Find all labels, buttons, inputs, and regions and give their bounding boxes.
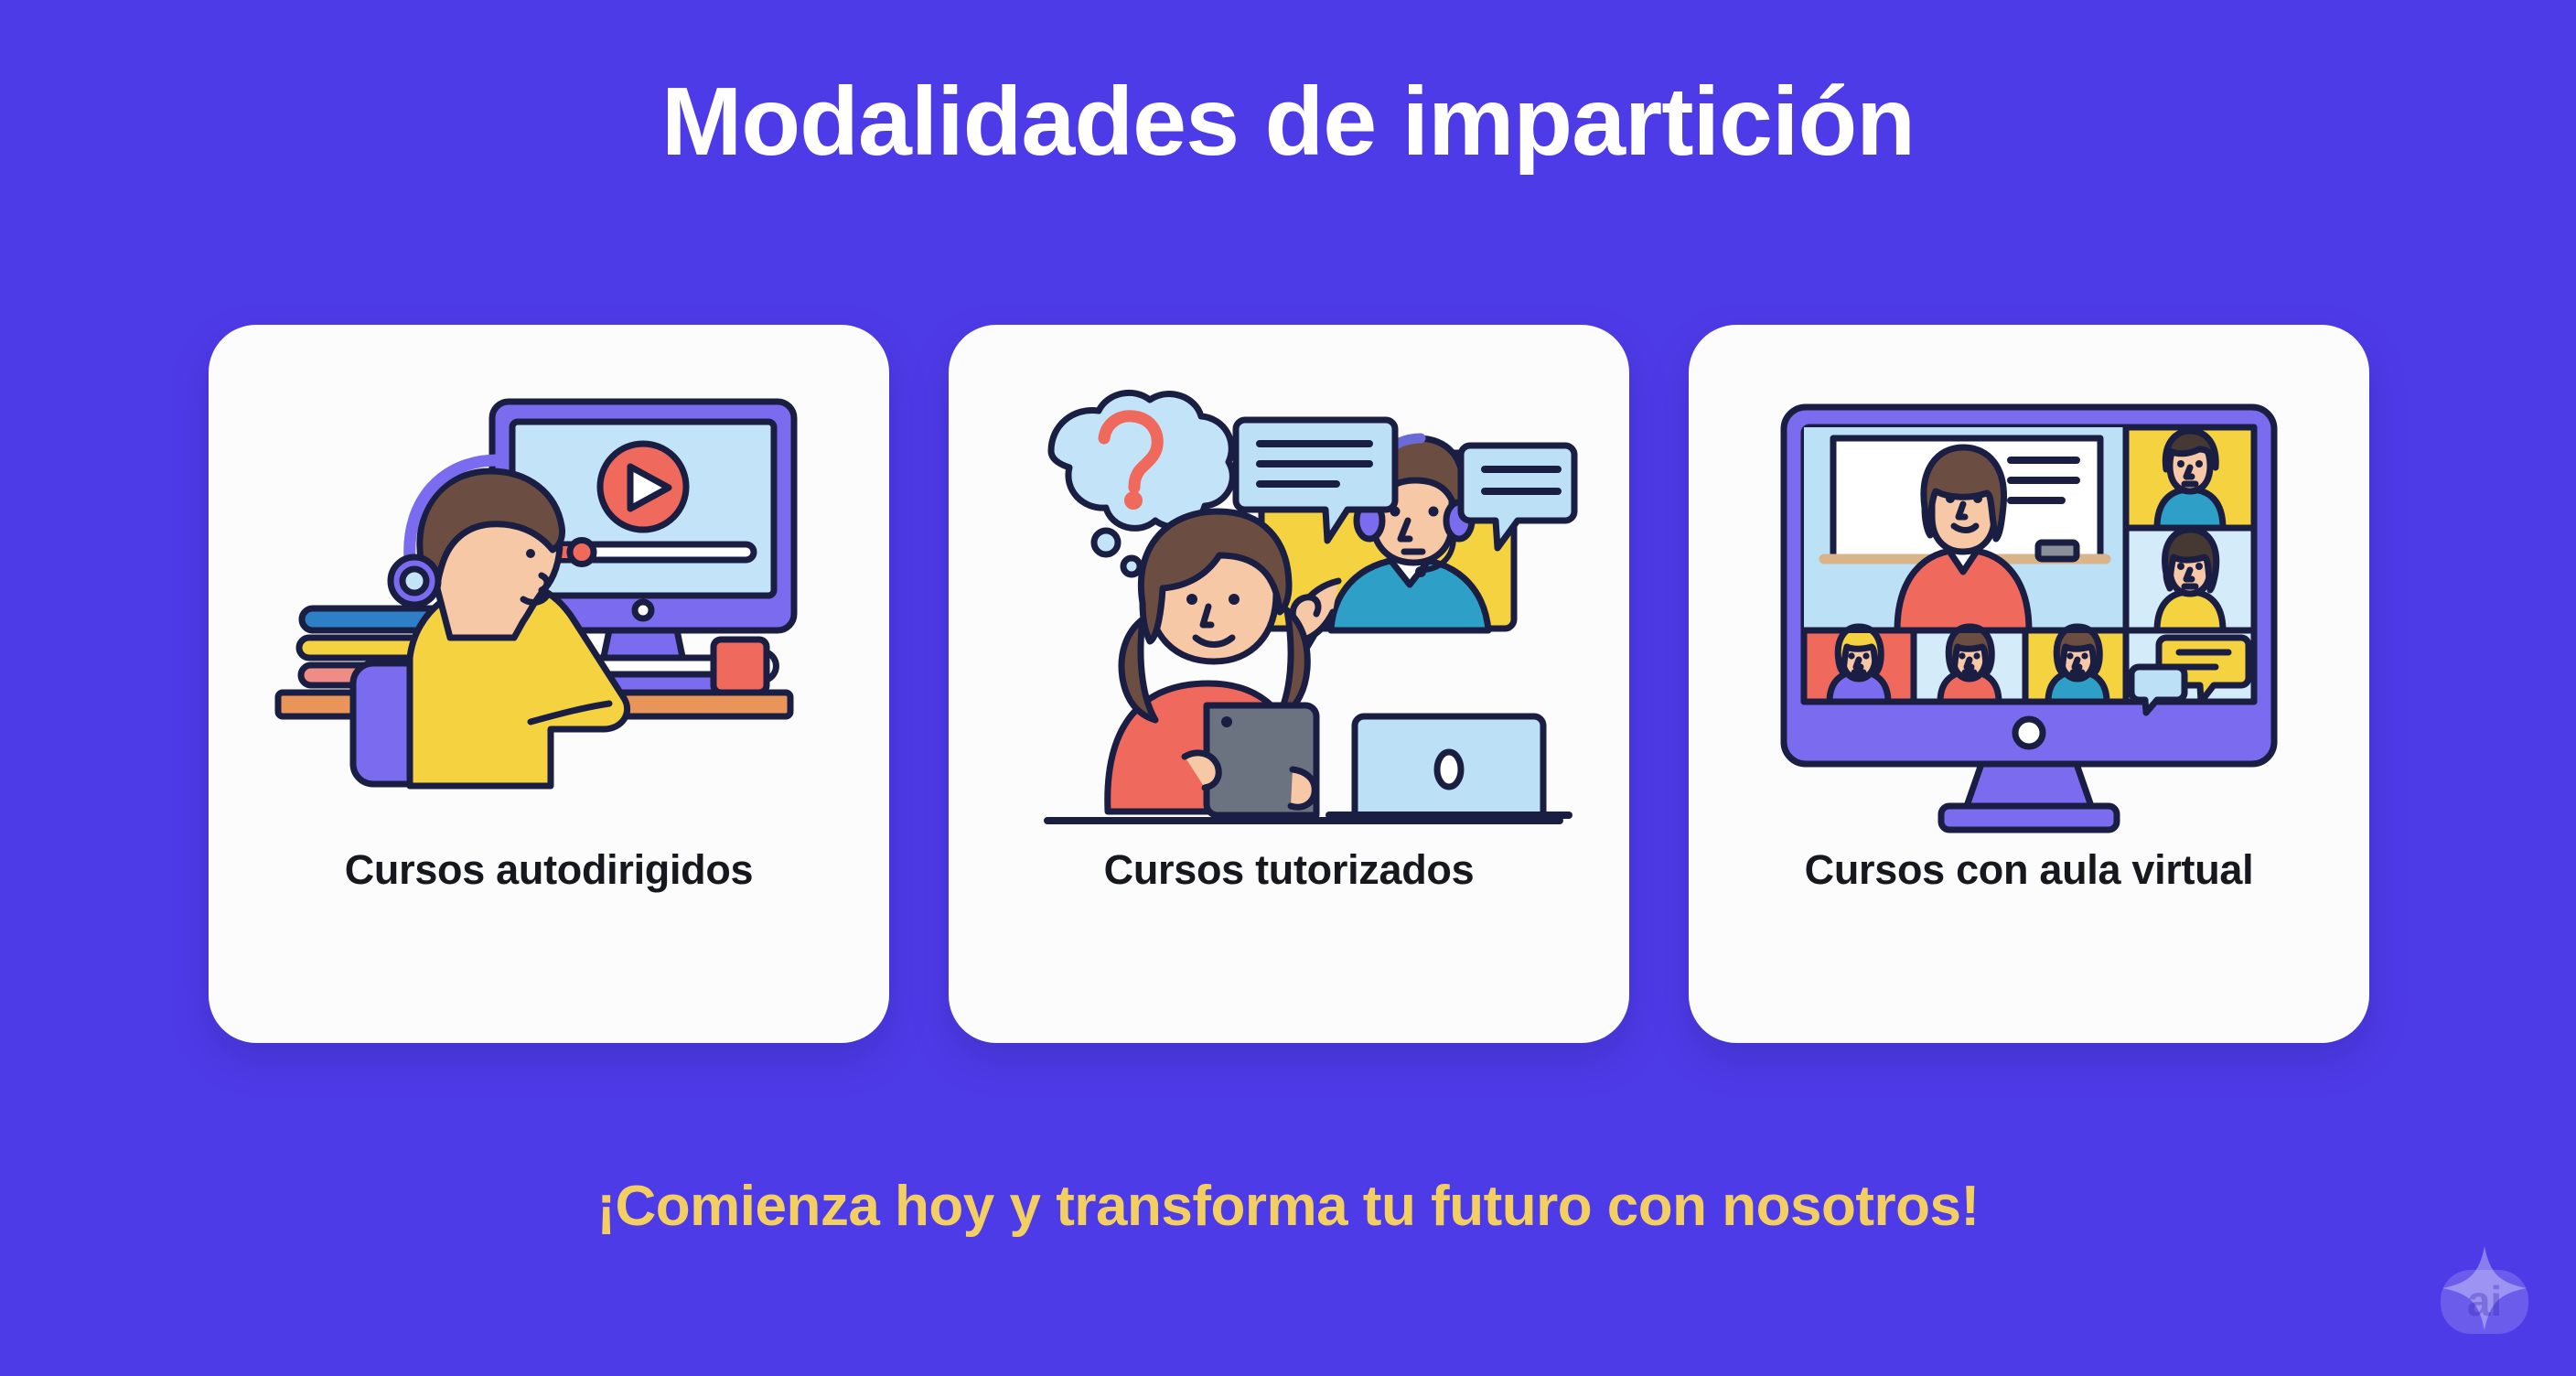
card-label-virtual-classroom: Cursos con aula virtual [1805, 846, 2254, 894]
card-label-tutored: Cursos tutorizados [1104, 846, 1475, 894]
card-self-paced[interactable]: Cursos autodirigidos [209, 325, 889, 1043]
call-to-action-text: ¡Comienza hoy y transforma tu futuro con… [0, 1174, 2576, 1239]
virtual-classroom-illustration [1736, 363, 2322, 839]
tutored-course-illustration [996, 363, 1582, 839]
card-tutored[interactable]: Cursos tutorizados [949, 325, 1629, 1043]
svg-text:ai: ai [2467, 1277, 2502, 1325]
cards-row: Cursos autodirigidos [209, 325, 2369, 1043]
card-virtual-classroom[interactable]: Cursos con aula virtual [1689, 325, 2369, 1043]
card-label-self-paced: Cursos autodirigidos [345, 846, 754, 894]
page-title: Modalidades de impartición [0, 70, 2576, 174]
self-paced-learner-illustration [256, 363, 842, 839]
ai-sparkle-badge-icon: ai [2428, 1237, 2541, 1350]
slide-root: Modalidades de impartición [0, 0, 2576, 1376]
